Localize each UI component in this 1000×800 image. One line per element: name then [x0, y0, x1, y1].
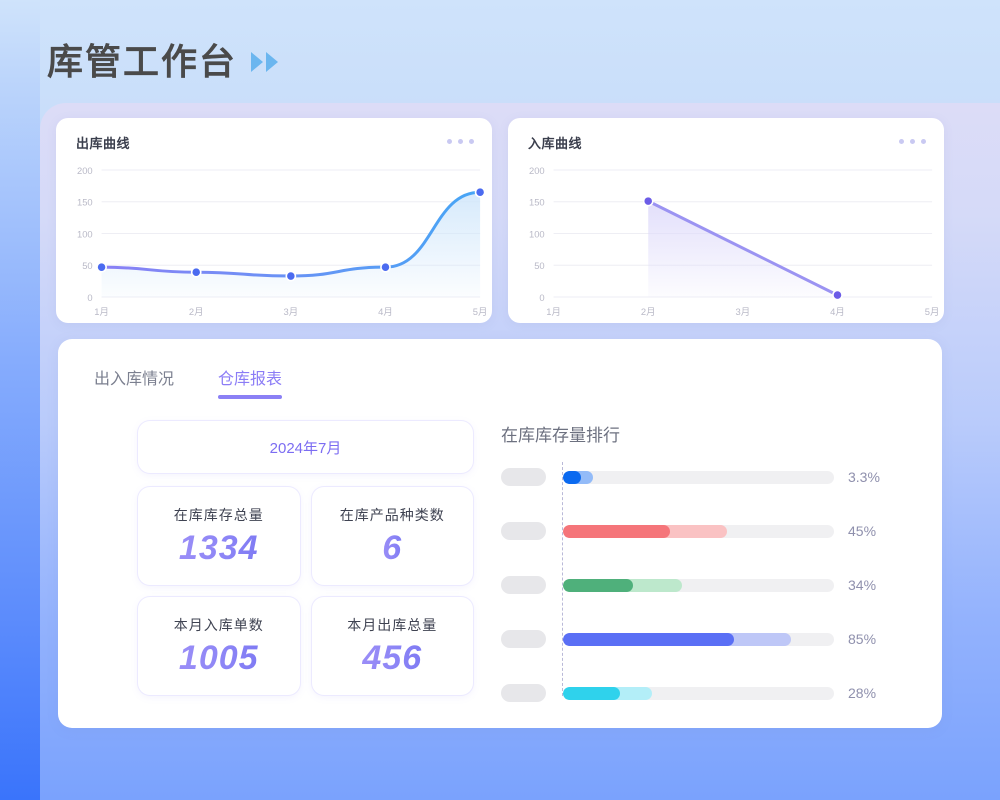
stat-value: 1005	[179, 639, 259, 678]
ranking-row: 3.3%	[501, 468, 908, 486]
ranking-row: 28%	[501, 684, 908, 702]
ranking-percent-label: 85%	[848, 631, 908, 647]
ranking-title: 在库库存量排行	[501, 421, 908, 446]
tab-warehouse-report[interactable]: 仓库报表	[218, 365, 282, 399]
three-dots-icon[interactable]	[447, 139, 474, 144]
stat-monthly-inbound-orders: 本月入库单数 1005	[138, 597, 300, 695]
three-dots-icon[interactable]	[899, 139, 926, 144]
report-tabs: 出入库情况 仓库报表	[94, 365, 282, 399]
ranking-bar-track	[563, 687, 834, 700]
inbound-chart-card: 入库曲线 0501001502001月2月3月4月5月	[508, 118, 944, 323]
outbound-chart-card: 出库曲线 0501001502001月2月3月4月5月	[56, 118, 492, 323]
svg-text:1月: 1月	[546, 307, 561, 318]
stat-label: 在库库存总量	[174, 505, 264, 525]
left-edge-rail	[0, 0, 40, 800]
page-header: 库管工作台	[47, 33, 278, 85]
ranking-rows: 3.3%45%34%85%28%	[501, 468, 908, 702]
ranking-label-placeholder	[501, 522, 546, 540]
svg-text:4月: 4月	[830, 307, 845, 318]
svg-text:5月: 5月	[925, 307, 940, 318]
dot-3	[469, 139, 474, 144]
tab-inbound-outbound[interactable]: 出入库情况	[94, 365, 174, 399]
arrow-right-icon-1	[251, 52, 263, 72]
svg-text:3月: 3月	[736, 307, 751, 318]
ranking-bar-dark-segment	[563, 687, 620, 700]
ranking-label-placeholder	[501, 630, 546, 648]
svg-text:2月: 2月	[641, 307, 656, 318]
ranking-bar-track	[563, 579, 834, 592]
stat-label: 本月入库单数	[174, 615, 264, 635]
dot-3	[921, 139, 926, 144]
svg-text:200: 200	[77, 166, 93, 177]
svg-text:100: 100	[77, 229, 93, 240]
month-selector[interactable]: 2024年7月	[138, 421, 473, 473]
svg-text:50: 50	[82, 261, 92, 272]
stat-value: 456	[362, 639, 422, 678]
svg-text:50: 50	[534, 261, 544, 272]
dot-1	[447, 139, 452, 144]
stats-column: 2024年7月 在库库存总量 1334 在库产品种类数 6 本月入库单数 100…	[138, 421, 473, 695]
dot-2	[910, 139, 915, 144]
inbound-chart-title: 入库曲线	[528, 133, 582, 152]
ranking-bar-dark-segment	[563, 633, 734, 646]
stat-monthly-outbound-total: 本月出库总量 456	[312, 597, 474, 695]
ranking-label-placeholder	[501, 684, 546, 702]
stat-label: 在库产品种类数	[340, 505, 445, 525]
ranking-row: 45%	[501, 522, 908, 540]
arrow-right-icon-2	[266, 52, 278, 72]
ranking-percent-label: 34%	[848, 577, 908, 593]
ranking-percent-label: 28%	[848, 685, 908, 701]
ranking-bar-track	[563, 525, 834, 538]
svg-text:200: 200	[529, 166, 545, 177]
report-card: 出入库情况 仓库报表 2024年7月 在库库存总量 1334 在库产品种类数 6…	[58, 339, 942, 728]
ranking-percent-label: 3.3%	[848, 469, 908, 485]
page-title: 库管工作台	[47, 33, 237, 85]
svg-text:3月: 3月	[284, 307, 299, 318]
inventory-ranking: 在库库存量排行 3.3%45%34%85%28%	[501, 421, 908, 702]
ranking-bar-dark-segment	[563, 471, 581, 484]
outbound-chart-title: 出库曲线	[76, 133, 130, 152]
dot-2	[458, 139, 463, 144]
svg-text:1月: 1月	[94, 307, 109, 318]
svg-text:5月: 5月	[473, 307, 488, 318]
stat-label: 本月出库总量	[347, 615, 437, 635]
dot-1	[899, 139, 904, 144]
ranking-bar-track	[563, 471, 834, 484]
ranking-label-placeholder	[501, 468, 546, 486]
stat-product-types: 在库产品种类数 6	[312, 487, 474, 585]
svg-text:0: 0	[539, 293, 544, 304]
svg-text:2月: 2月	[189, 307, 204, 318]
svg-text:150: 150	[77, 198, 93, 209]
double-right-arrow-icon[interactable]	[251, 52, 278, 72]
ranking-row: 85%	[501, 630, 908, 648]
svg-text:100: 100	[529, 229, 545, 240]
stat-total-inventory: 在库库存总量 1334	[138, 487, 300, 585]
ranking-bar-track	[563, 633, 834, 646]
svg-text:150: 150	[529, 198, 545, 209]
ranking-label-placeholder	[501, 576, 546, 594]
svg-text:0: 0	[87, 293, 92, 304]
charts-row: 出库曲线 0501001502001月2月3月4月5月 入库曲线 0501001…	[56, 118, 944, 323]
stat-value: 1334	[179, 529, 259, 568]
stat-grid: 在库库存总量 1334 在库产品种类数 6 本月入库单数 1005 本月出库总量…	[138, 487, 473, 695]
ranking-bar-dark-segment	[563, 525, 670, 538]
svg-text:4月: 4月	[378, 307, 393, 318]
ranking-row: 34%	[501, 576, 908, 594]
outbound-chart-plot: 0501001502001月2月3月4月5月	[56, 158, 492, 323]
stat-value: 6	[382, 529, 402, 568]
ranking-percent-label: 45%	[848, 523, 908, 539]
ranking-bar-dark-segment	[563, 579, 633, 592]
inbound-chart-plot: 0501001502001月2月3月4月5月	[508, 158, 944, 323]
